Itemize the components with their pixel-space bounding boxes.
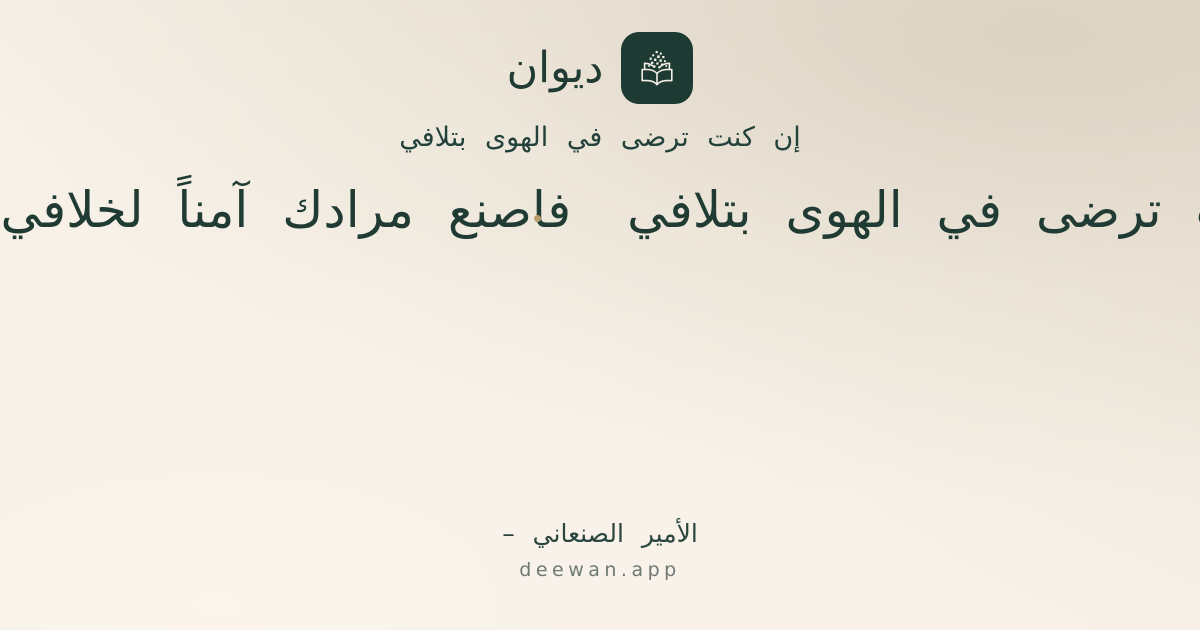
app-logo — [621, 32, 693, 104]
poem-verse-second-half: فاصنع مرادك آمناً لخلافي — [1, 181, 572, 239]
site-url: deewan.app — [0, 558, 1200, 583]
card-content: ديوان إن كنت ترضى في الهوى بتلافي إن كنت… — [0, 0, 1200, 630]
share-card: ديوان إن كنت ترضى في الهوى بتلافي إن كنت… — [0, 0, 1200, 630]
brand-header: ديوان — [0, 32, 1200, 104]
poem-hemistich-line: إن كنت ترضى في الهوى بتلافي — [0, 118, 1200, 159]
brand-name: ديوان — [507, 47, 604, 90]
poem-verse-line: إن كنت ترضى في الهوى بتلافيفاصنع مرادك آ… — [1, 168, 1200, 252]
poet-attribution: الأمير الصنعاني – — [0, 516, 1200, 551]
card-footer: الأمير الصنعاني – deewan.app — [0, 516, 1200, 583]
verse-separator-dot — [534, 215, 541, 222]
poem-verse-band: إن كنت ترضى في الهوى بتلافيفاصنع مرادك آ… — [0, 168, 1200, 252]
poem-verse-first-half: إن كنت ترضى في الهوى بتلافي — [627, 181, 1200, 239]
open-book-sparkles-icon — [634, 45, 680, 91]
